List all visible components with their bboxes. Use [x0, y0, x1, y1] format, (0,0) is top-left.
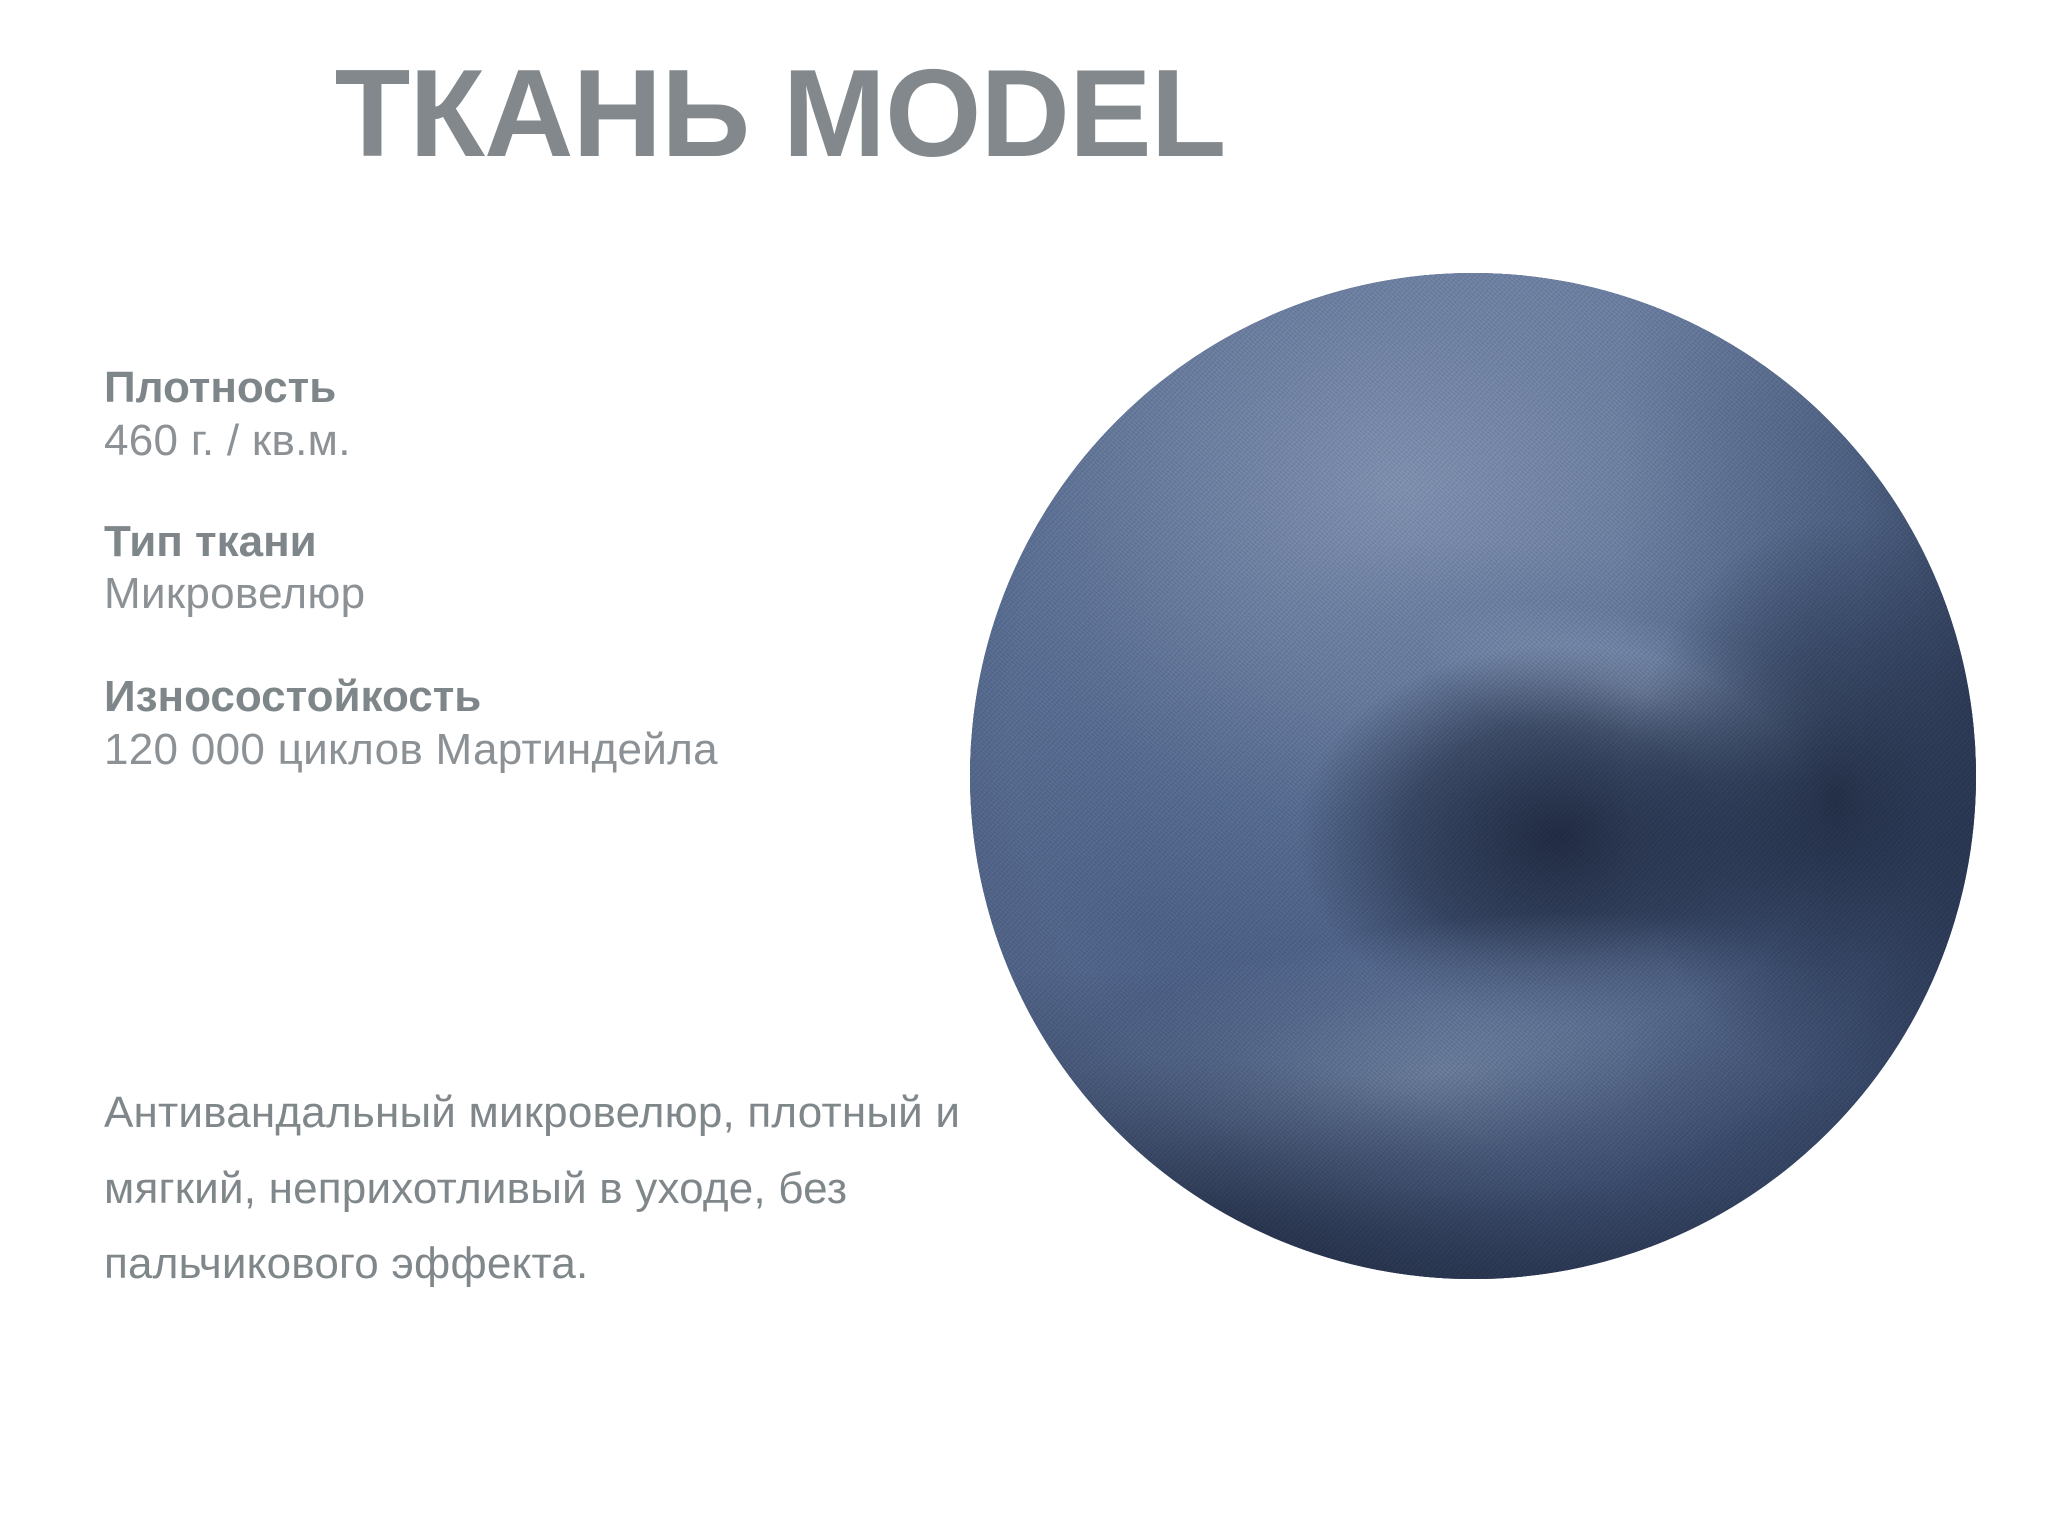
spec-label-abrasion-resistance: Износостойкость	[104, 671, 864, 723]
spec-label-density: Плотность	[104, 362, 864, 414]
description-text: Антивандальный микровелюр, плотный и мяг…	[104, 1075, 1004, 1302]
fabric-photo-circle	[970, 273, 1976, 1279]
spec-item-fabric-type: Тип ткани Микровелюр	[104, 516, 864, 622]
spec-item-abrasion-resistance: Износостойкость 120 000 циклов Мартиндей…	[104, 671, 864, 777]
slide-root: ТКАНЬ MODEL Плотность 460 г. / кв.м. Тип…	[0, 0, 2048, 1536]
page-title: ТКАНЬ MODEL	[0, 48, 1560, 182]
spec-value-fabric-type: Микровелюр	[104, 567, 864, 621]
spec-value-density: 460 г. / кв.м.	[104, 414, 864, 468]
fabric-vignette	[970, 273, 1976, 1279]
spec-value-abrasion-resistance: 120 000 циклов Мартиндейла	[104, 723, 864, 777]
specs-list: Плотность 460 г. / кв.м. Тип ткани Микро…	[104, 362, 864, 825]
spec-item-density: Плотность 460 г. / кв.м.	[104, 362, 864, 468]
spec-label-fabric-type: Тип ткани	[104, 516, 864, 568]
